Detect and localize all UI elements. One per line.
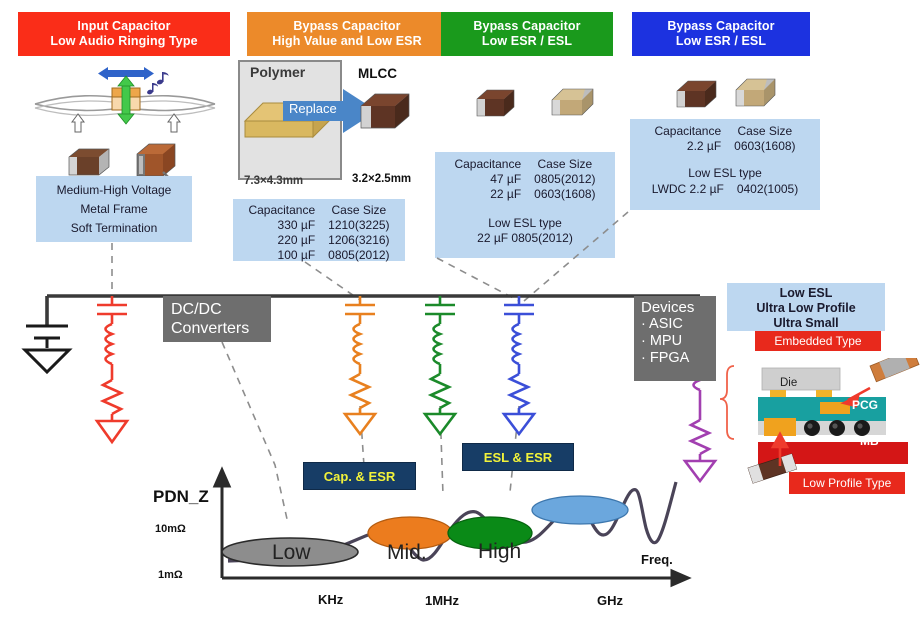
low-profile-type-tag: Low Profile Type [789, 472, 905, 494]
spec-row: 22 µF 0603(1608) [451, 187, 598, 202]
mlcc-chip-photo-2 [355, 88, 417, 134]
banner-line2: Low ESR / ESL [676, 34, 766, 49]
esl-esr-ellipse [532, 496, 628, 524]
devices-item: · FPGA [641, 350, 709, 367]
mlcc-chip-photo-6 [731, 73, 781, 111]
spec-header-capacitance: Capacitance [245, 203, 318, 218]
branch-green-ground [425, 414, 455, 434]
esl-esr-callout: ESL & ESR [462, 443, 574, 471]
banner-bypass-high-value: Bypass Capacitor High Value and Low ESR [247, 12, 447, 56]
spec-size: 1206(3216) [318, 233, 392, 248]
source-symbol [26, 326, 68, 348]
spec-line: Metal Frame [36, 200, 192, 219]
spec-box-orange-column: Capacitance Case Size 330 µF 1210(3225) … [233, 199, 405, 261]
low-esl-line3: Ultra Small [727, 316, 885, 331]
mlcc-dim-line1: 3.2×2.5mm [352, 172, 411, 186]
ytick-10mohm: 10mΩ [155, 523, 186, 535]
spec-sub-cap: LWDC 2.2 µF [649, 182, 727, 197]
spec-line: Soft Termination [36, 219, 192, 238]
low-esl-line2: Ultra Low Profile [727, 301, 885, 316]
mlcc-chip-photo-5 [672, 76, 722, 112]
banner-line1: Bypass Capacitor [293, 19, 400, 34]
banner-line1: Bypass Capacitor [667, 19, 774, 34]
devices-block: Devices · ASIC · MPU · FPGA [634, 296, 716, 381]
branch-blue-ground [504, 414, 534, 434]
spec-row: LWDC 2.2 µF 0402(1005) [649, 182, 801, 197]
banner-input-capacitor: Input Capacitor Low Audio Ringing Type [18, 12, 230, 56]
pdn-z-chart [150, 460, 700, 600]
mlcc-label: MLCC [358, 66, 397, 81]
xtick-1mhz: 1MHz [425, 593, 459, 608]
spec-header-capacitance: Capacitance [451, 157, 524, 172]
dcdc-line1: DC/DC [171, 300, 263, 319]
low-esl-line1: Low ESL [727, 286, 885, 301]
spec-line: Medium-High Voltage [36, 181, 192, 200]
audio-ringing-illustration [30, 62, 220, 152]
banner-line1: Input Capacitor [77, 19, 170, 34]
band-label-high: High [478, 540, 521, 564]
mlcc-chip-photo-3 [472, 85, 520, 121]
spec-sub-size: 0402(1005) [727, 182, 801, 197]
spec-size: 0603(1608) [724, 139, 798, 154]
banner-line2: Low Audio Ringing Type [50, 34, 197, 49]
spec-row: 220 µF 1206(3216) [245, 233, 392, 248]
ytick-1mohm: 1mΩ [158, 569, 183, 581]
branch-orange [345, 296, 375, 414]
spec-cap: 100 µF [245, 248, 318, 263]
spec-box-input-capacitor: Medium-High Voltage Metal Frame Soft Ter… [36, 176, 192, 242]
spec-header-case-size: Case Size [724, 124, 798, 139]
mb-label: MB [860, 434, 879, 448]
ground-symbol [25, 350, 69, 372]
spec-cap: 47 µF [451, 172, 524, 187]
banner-line1: Bypass Capacitor [473, 19, 580, 34]
banner-line2: High Value and Low ESR [272, 34, 421, 49]
branch-red [97, 296, 127, 421]
spec-header-case-size: Case Size [524, 157, 598, 172]
cap-esr-callout: Cap. & ESR [303, 462, 416, 490]
mlcc-chip-photo-4 [547, 84, 599, 120]
band-label-low: Low [272, 541, 311, 565]
spec-size: 1210(3225) [318, 218, 392, 233]
spec-box-green-column: Capacitance Case Size 47 µF 0805(2012) 2… [435, 152, 615, 258]
spec-size: 0805(2012) [318, 248, 392, 263]
spec-row: 330 µF 1210(3225) [245, 218, 392, 233]
branch-orange-ground [345, 414, 375, 434]
embedded-type-tag: Embedded Type [755, 331, 881, 351]
xtick-khz: KHz [318, 592, 343, 607]
diagram-canvas: Input Capacitor Low Audio Ringing Type B… [0, 0, 923, 622]
devices-title: Devices [641, 299, 709, 316]
spec-size: 0805(2012) [524, 172, 598, 187]
devices-item: · ASIC [641, 316, 709, 333]
polymer-dim-line1: 7.3×4.3mm [244, 174, 304, 188]
pcg-label: PCG [852, 398, 878, 412]
spec-cap: 330 µF [245, 218, 318, 233]
die-label: Die [780, 377, 797, 389]
spec-row: 2.2 µF 0603(1608) [651, 139, 798, 154]
spec-row: 47 µF 0805(2012) [451, 172, 598, 187]
spec-row: 100 µF 0805(2012) [245, 248, 392, 263]
branch-red-ground [97, 421, 127, 442]
polymer-label: Polymer [250, 64, 305, 80]
devices-item: · MPU [641, 333, 709, 350]
dcdc-line2: Converters [171, 319, 263, 338]
banner-bypass-blue: Bypass Capacitor Low ESR / ESL [632, 12, 810, 56]
dcdc-converters-block: DC/DC Converters [163, 296, 271, 342]
spec-box-blue-column: Capacitance Case Size 2.2 µF 0603(1608) … [630, 119, 820, 210]
band-label-mid: Mid. [387, 541, 427, 565]
low-esl-box: Low ESL Ultra Low Profile Ultra Small [727, 283, 885, 331]
spec-sub-title: Low ESL type [630, 166, 820, 181]
xtick-ghz: GHz [597, 593, 623, 608]
spec-header-capacitance: Capacitance [651, 124, 724, 139]
branch-green [425, 296, 455, 414]
xaxis-label-freq: Freq. [641, 552, 673, 567]
spec-size: 0603(1608) [524, 187, 598, 202]
spec-cap: 22 µF [451, 187, 524, 202]
branch-blue [504, 296, 534, 414]
replace-label: Replace [289, 101, 337, 116]
spec-cap: 2.2 µF [651, 139, 724, 154]
spec-cap: 220 µF [245, 233, 318, 248]
banner-bypass-green: Bypass Capacitor Low ESR / ESL [441, 12, 613, 56]
spec-header-case-size: Case Size [318, 203, 392, 218]
spec-sub-title: Low ESL type [435, 216, 615, 231]
pdn-z-axis-label: PDN_Z [153, 487, 209, 507]
banner-line2: Low ESR / ESL [482, 34, 572, 49]
spec-sub-line: 22 µF 0805(2012) [435, 231, 615, 246]
